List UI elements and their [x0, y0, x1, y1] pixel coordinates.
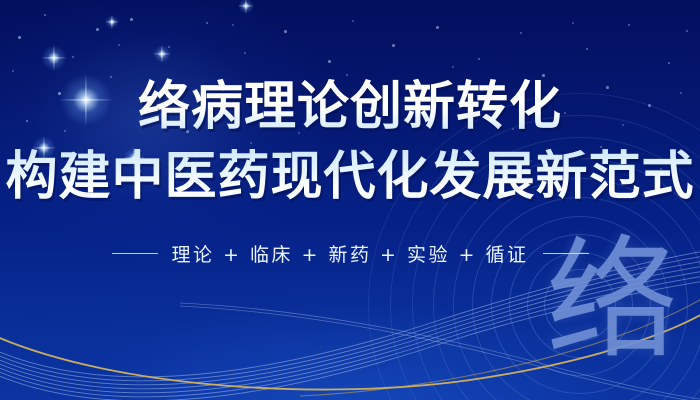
- subtitle-rule-left: [112, 253, 158, 255]
- subtitle-row: 理论 + 临床 + 新药 + 实验 + 循证: [0, 240, 700, 267]
- promo-banner: 络 络病理论创新转化 构建中医药现代化发展新范式 理论 + 临床 + 新药 + …: [0, 0, 700, 400]
- subtitle-rule-right: [543, 253, 589, 255]
- headline-line-1: 络病理论创新转化: [0, 78, 700, 136]
- subtitle-text: 理论 + 临床 + 新药 + 实验 + 循证: [172, 240, 529, 267]
- banner-content: 络病理论创新转化 构建中医药现代化发展新范式 理论 + 临床 + 新药 + 实验…: [0, 0, 700, 400]
- headline-line-2: 构建中医药现代化发展新范式: [0, 148, 700, 206]
